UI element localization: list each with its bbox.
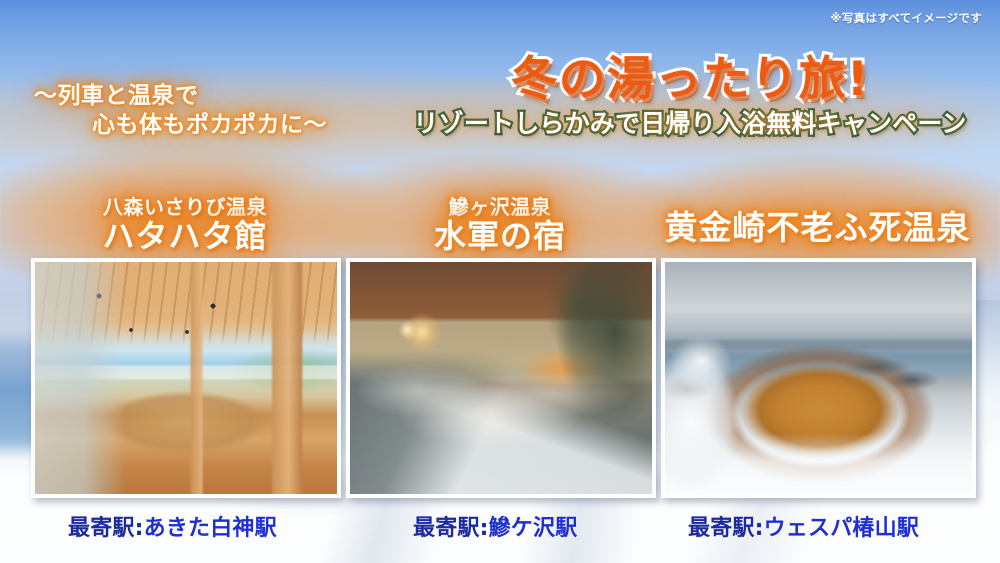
station-name-3: ウェスパ椿山駅 <box>764 516 919 541</box>
station-prefix-2: 最寄駅: <box>413 516 489 541</box>
facility-title-1: 八森いさりび温泉 ハタハタ館 <box>30 196 340 255</box>
nearest-station-3: 最寄駅:ウェスパ椿山駅 <box>688 510 919 542</box>
station-prefix-1: 最寄駅: <box>68 516 144 541</box>
facility-photo-3 <box>661 258 976 498</box>
tagline-line-1: 〜列車と温泉で <box>34 83 199 109</box>
station-prefix-3: 最寄駅: <box>688 516 764 541</box>
campaign-title-sub: リゾートしらかみで日帰り入浴無料キャンペーン <box>390 110 990 138</box>
station-name-2: 鰺ケ沢駅 <box>489 516 578 541</box>
photo-disclaimer: ※写真はすべてイメージです <box>830 10 982 26</box>
photo-image-hatahatakan <box>35 262 337 494</box>
facility-facility-name-2: 水軍の宿 <box>345 219 655 255</box>
facility-title-3: 黄金崎不老ふ死温泉 <box>660 210 975 247</box>
facility-photo-2 <box>346 258 656 498</box>
station-name-1: あきた白神駅 <box>144 516 277 541</box>
ceiling-lights-detail <box>35 262 337 494</box>
campaign-title-main: 冬の湯ったり旅! <box>390 55 990 106</box>
nearest-station-2: 最寄駅:鰺ケ沢駅 <box>413 510 577 542</box>
facility-facility-name-3: 黄金崎不老ふ死温泉 <box>660 210 975 247</box>
facility-photo-1 <box>31 258 341 498</box>
facility-onsen-name-2: 鰺ヶ沢温泉 <box>345 196 655 219</box>
tagline: 〜列車と温泉で 心も体もポカポカに〜 <box>34 82 394 141</box>
campaign-title: 冬の湯ったり旅! リゾートしらかみで日帰り入浴無料キャンペーン <box>390 55 990 137</box>
photo-image-suigunnoyado <box>350 262 652 494</box>
nearest-station-1: 最寄駅:あきた白神駅 <box>68 510 277 542</box>
facility-facility-name-1: ハタハタ館 <box>30 219 340 255</box>
facility-title-2: 鰺ヶ沢温泉 水軍の宿 <box>345 196 655 255</box>
facility-onsen-name-1: 八森いさりび温泉 <box>30 196 340 219</box>
photo-image-furofushi <box>665 262 972 494</box>
tagline-line-2: 心も体もポカポカに〜 <box>34 111 394 140</box>
promo-poster: ※写真はすべてイメージです 〜列車と温泉で 心も体もポカポカに〜 冬の湯ったり旅… <box>0 0 1000 563</box>
